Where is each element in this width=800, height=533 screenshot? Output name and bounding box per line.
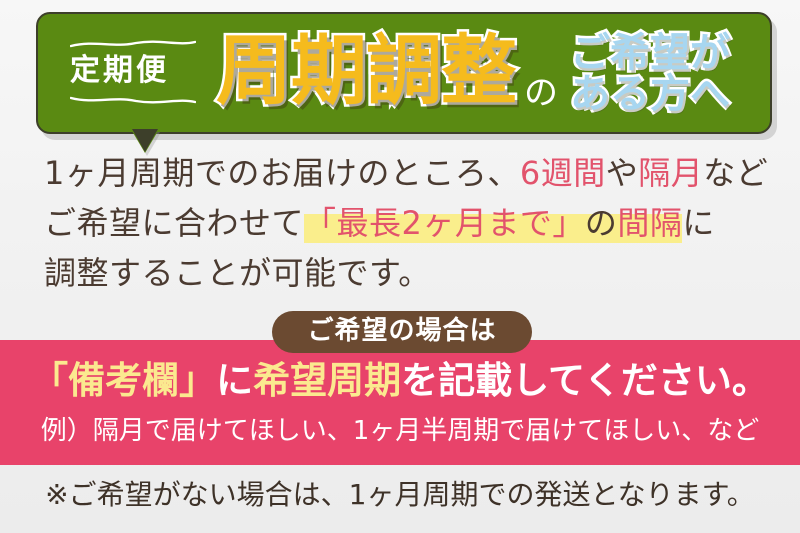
body-line1-text-a: 1ヶ月周期でのお届けのところ、 (44, 154, 520, 192)
body-line-1: 1ヶ月周期でのお届けのところ、6週間や隔月など (44, 148, 770, 198)
body-line2-highlight-accent-b: 間隔 (617, 204, 682, 243)
instruction-accent-b: 希望周期 (253, 359, 401, 402)
body-line-3: 調整することが可能です。 (44, 248, 770, 298)
instruction-band: 「備考欄」に希望周期を記載してください。 例）隔月で届けてほしい、1ヶ月半周期で… (0, 340, 800, 465)
request-case-pill: ご希望の場合は (272, 311, 532, 353)
wave-rule-bottom-icon (70, 95, 196, 104)
header-target-line-1: ご希望が (570, 33, 730, 74)
body-line1-accent-a: 6週間 (520, 154, 606, 192)
body-paragraph: 1ヶ月周期でのお届けのところ、6週間や隔月など ご希望に合わせて「最長2ヶ月まで… (44, 148, 770, 298)
header-title-particle: の (524, 65, 558, 114)
instruction-plain-a: に (216, 359, 253, 402)
header-target-audience: ご希望が ある方へ (570, 33, 730, 115)
body-line2-highlight-plain: の (585, 204, 618, 243)
instruction-accent-a: 「備考欄」 (31, 359, 216, 402)
body-line-2: ご希望に合わせて「最長2ヶ月まで」の間隔に (44, 198, 770, 248)
header-green-box: 定期便 周期調整 の ご希望が ある方へ (36, 12, 772, 134)
header-target-line-2: ある方へ (570, 74, 730, 115)
wave-rule-top-icon (70, 40, 196, 49)
subscription-badge: 定期便 (64, 34, 202, 112)
request-case-pill-label: ご希望の場合は (307, 318, 496, 344)
body-line1-text-b: や (606, 154, 639, 192)
speech-bubble-tail-icon (132, 131, 158, 153)
header-title: 周期調整 (216, 33, 516, 109)
body-line3-text: 調整することが可能です。 (44, 254, 431, 292)
instruction-example-text: 例）隔月で届けてほしい、1ヶ月半周期で届けてほしい、など (0, 418, 800, 444)
footer-note: ※ご希望がない場合は、1ヶ月周期での発送となります。 (0, 481, 800, 509)
instruction-plain-b: を記載してください。 (401, 359, 769, 402)
body-line2-text-a: ご希望に合わせて (44, 204, 304, 242)
subscription-badge-label: 定期便 (70, 56, 196, 86)
body-line2-text-b: に (682, 204, 715, 242)
instruction-main-text: 「備考欄」に希望周期を記載してください。 (0, 362, 800, 399)
body-line1-text-c: など (703, 154, 768, 192)
promo-banner: 定期便 周期調整 の ご希望が ある方へ 1ヶ月周期でのお届けのところ、6週間や… (0, 0, 800, 533)
body-line1-accent-b: 隔月 (638, 154, 703, 192)
body-line2-highlight-accent-a: 「最長2ヶ月まで」 (304, 204, 585, 243)
